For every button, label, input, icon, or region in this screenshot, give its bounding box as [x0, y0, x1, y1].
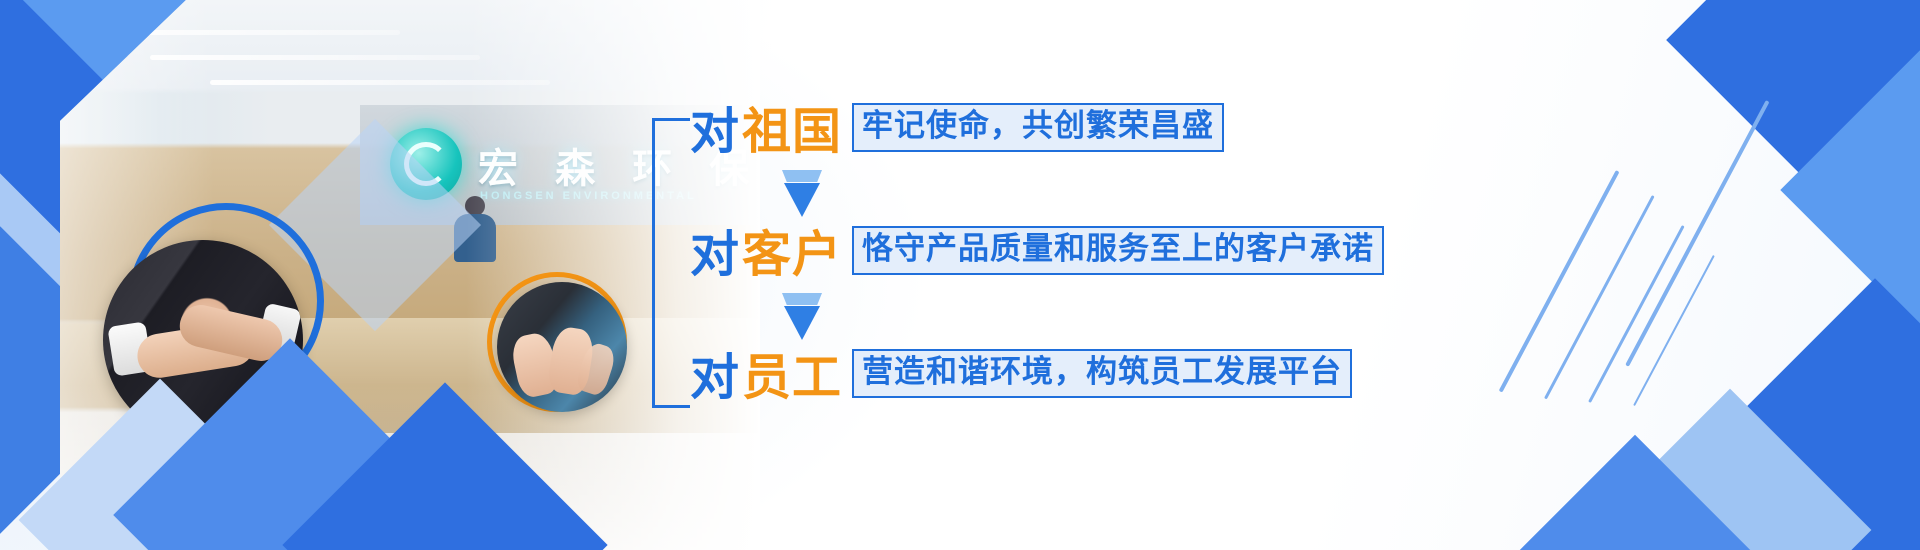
- chevron-down-icon-bottom: [784, 183, 820, 217]
- chevron-down-icon-top: [782, 293, 822, 305]
- value-row-customer: 对 客户 恪守产品质量和服务至上的客户承诺: [690, 215, 1384, 286]
- applause-photo: [497, 282, 627, 412]
- value-prefix: 对: [690, 92, 740, 163]
- value-prefix: 对: [690, 215, 740, 286]
- ceiling-light-strip: [150, 55, 480, 60]
- value-keyword: 员工: [742, 338, 842, 409]
- chevron-down-icon-bottom: [784, 306, 820, 340]
- value-lead-employee: 对 员工: [690, 338, 842, 409]
- value-prefix: 对: [690, 338, 740, 409]
- value-phrase-country: 牢记使命，共创繁荣昌盛: [852, 103, 1224, 152]
- ceiling-light-strip: [210, 80, 550, 85]
- bracket-connector: [652, 118, 690, 408]
- value-phrase-customer: 恪守产品质量和服务至上的客户承诺: [852, 226, 1384, 275]
- value-row-employee: 对 员工 营造和谐环境，构筑员工发展平台: [690, 338, 1352, 409]
- values-list: 对 祖国 牢记使命，共创繁荣昌盛 对 客户 恪守产品质量和服务至上的客户承诺 对…: [652, 70, 1672, 490]
- value-keyword: 祖国: [742, 92, 842, 163]
- value-row-country: 对 祖国 牢记使命，共创繁荣昌盛: [690, 92, 1224, 163]
- corporate-values-banner: 宏 森 环 保 HONGSEN ENVIRONMENTAL: [0, 0, 1920, 550]
- value-lead-country: 对 祖国: [690, 92, 842, 163]
- chevron-down-icon-top: [782, 170, 822, 182]
- value-keyword: 客户: [742, 215, 842, 286]
- value-lead-customer: 对 客户: [690, 215, 842, 286]
- value-phrase-employee: 营造和谐环境，构筑员工发展平台: [852, 349, 1352, 398]
